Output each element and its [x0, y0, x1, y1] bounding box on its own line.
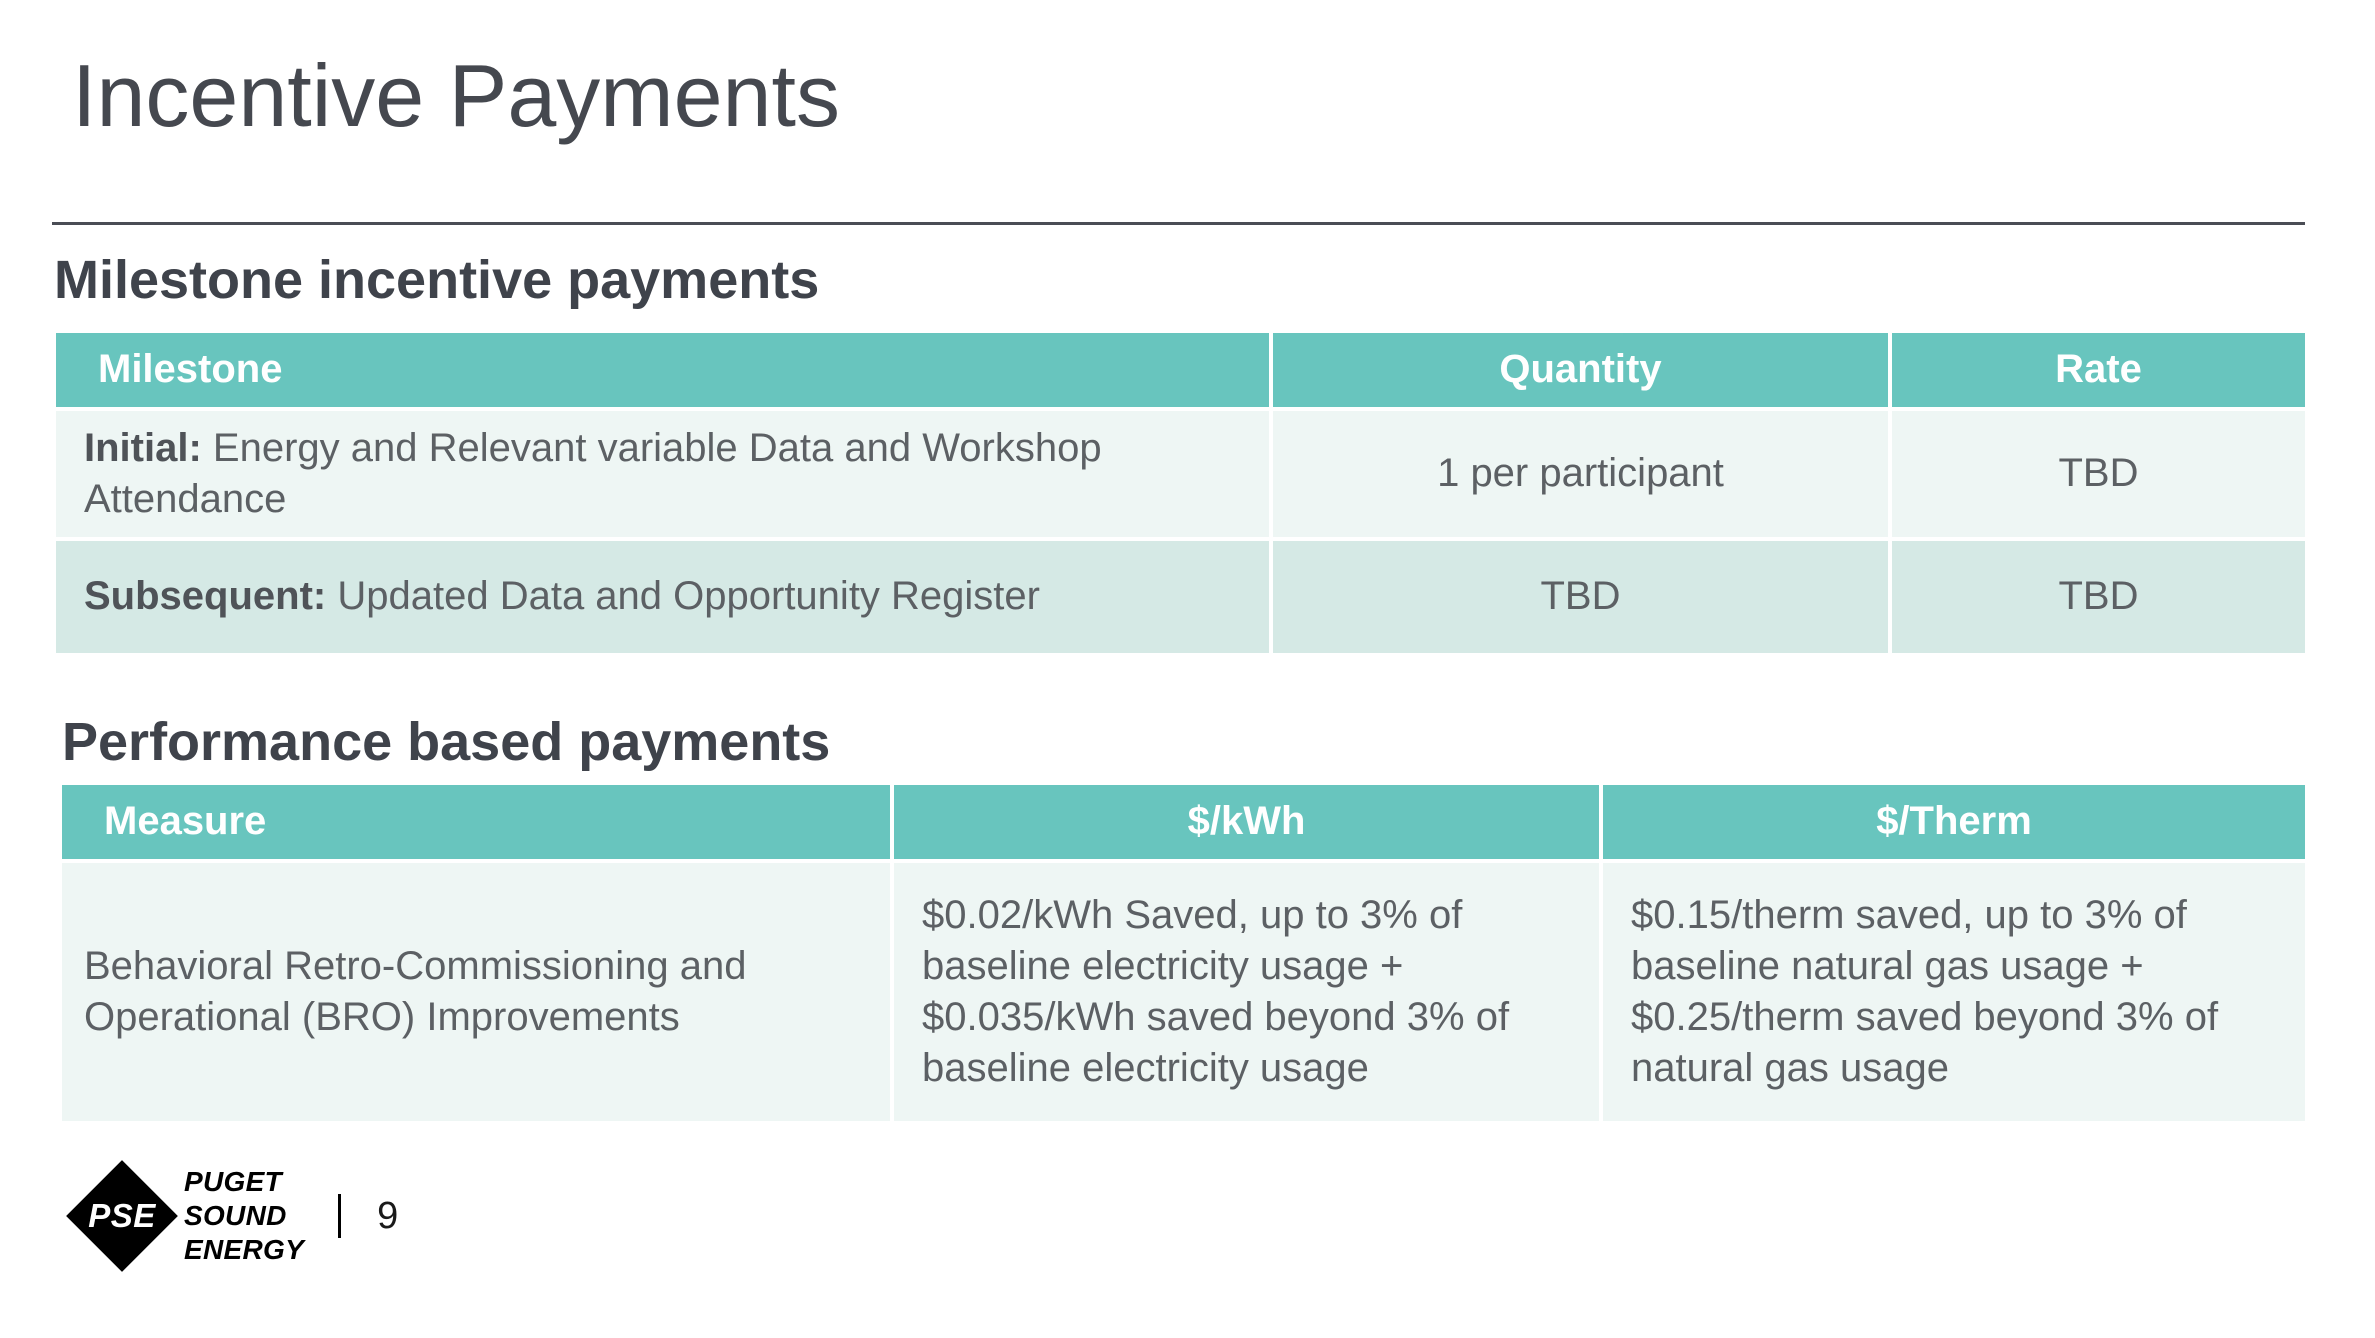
pse-logo-icon: PSE — [66, 1160, 178, 1272]
page-title: Incentive Payments — [72, 50, 840, 142]
logo-pse-text: PSE — [66, 1160, 178, 1272]
milestone-row-2-rate: TBD — [1892, 541, 2305, 653]
milestone-row-1-quantity: 1 per participant — [1273, 411, 1888, 537]
performance-table-header-kwh: $/kWh — [894, 785, 1599, 859]
performance-row-1-kwh: $0.02/kWh Saved, up to 3% of baseline el… — [894, 863, 1599, 1121]
milestone-table-header-milestone: Milestone — [56, 333, 1269, 407]
milestone-table-header-quantity: Quantity — [1273, 333, 1888, 407]
table-row: Subsequent: Updated Data and Opportunity… — [56, 541, 1269, 653]
wordmark-line-energy: ENERGY — [184, 1233, 304, 1267]
milestone-row-1-text: Energy and Relevant variable Data and Wo… — [84, 426, 1102, 521]
milestone-incentive-table: Milestone Quantity Rate Initial: Energy … — [56, 333, 2305, 653]
slide-canvas: Incentive Payments Milestone incentive p… — [0, 0, 2375, 1338]
section-heading-milestone: Milestone incentive payments — [54, 253, 819, 307]
performance-row-1-measure: Behavioral Retro-Commissioning and Opera… — [62, 863, 890, 1121]
section-heading-performance: Performance based payments — [62, 715, 830, 769]
page-number: 9 — [377, 1195, 398, 1238]
milestone-row-2-quantity: TBD — [1273, 541, 1888, 653]
milestone-row-1-label: Initial: — [84, 426, 202, 470]
milestone-table-header-rate: Rate — [1892, 333, 2305, 407]
wordmark-line-sound: SOUND — [184, 1199, 304, 1233]
slide-footer: PSE PUGET SOUND ENERGY 9 — [66, 1160, 398, 1272]
milestone-row-1-rate: TBD — [1892, 411, 2305, 537]
wordmark-line-puget: PUGET — [184, 1165, 304, 1199]
performance-table-header-measure: Measure — [62, 785, 890, 859]
performance-table-header-therm: $/Therm — [1603, 785, 2305, 859]
performance-row-1-therm: $0.15/therm saved, up to 3% of baseline … — [1603, 863, 2305, 1121]
milestone-row-2-label: Subsequent: — [84, 574, 326, 618]
footer-divider — [338, 1194, 341, 1238]
table-row: Initial: Energy and Relevant variable Da… — [56, 411, 1269, 537]
title-divider-rule — [52, 222, 2305, 225]
performance-based-payments-table: Measure $/kWh $/Therm Behavioral Retro-C… — [62, 785, 2305, 1121]
milestone-row-2-text: Updated Data and Opportunity Register — [326, 574, 1040, 618]
pse-wordmark: PUGET SOUND ENERGY — [184, 1165, 304, 1267]
